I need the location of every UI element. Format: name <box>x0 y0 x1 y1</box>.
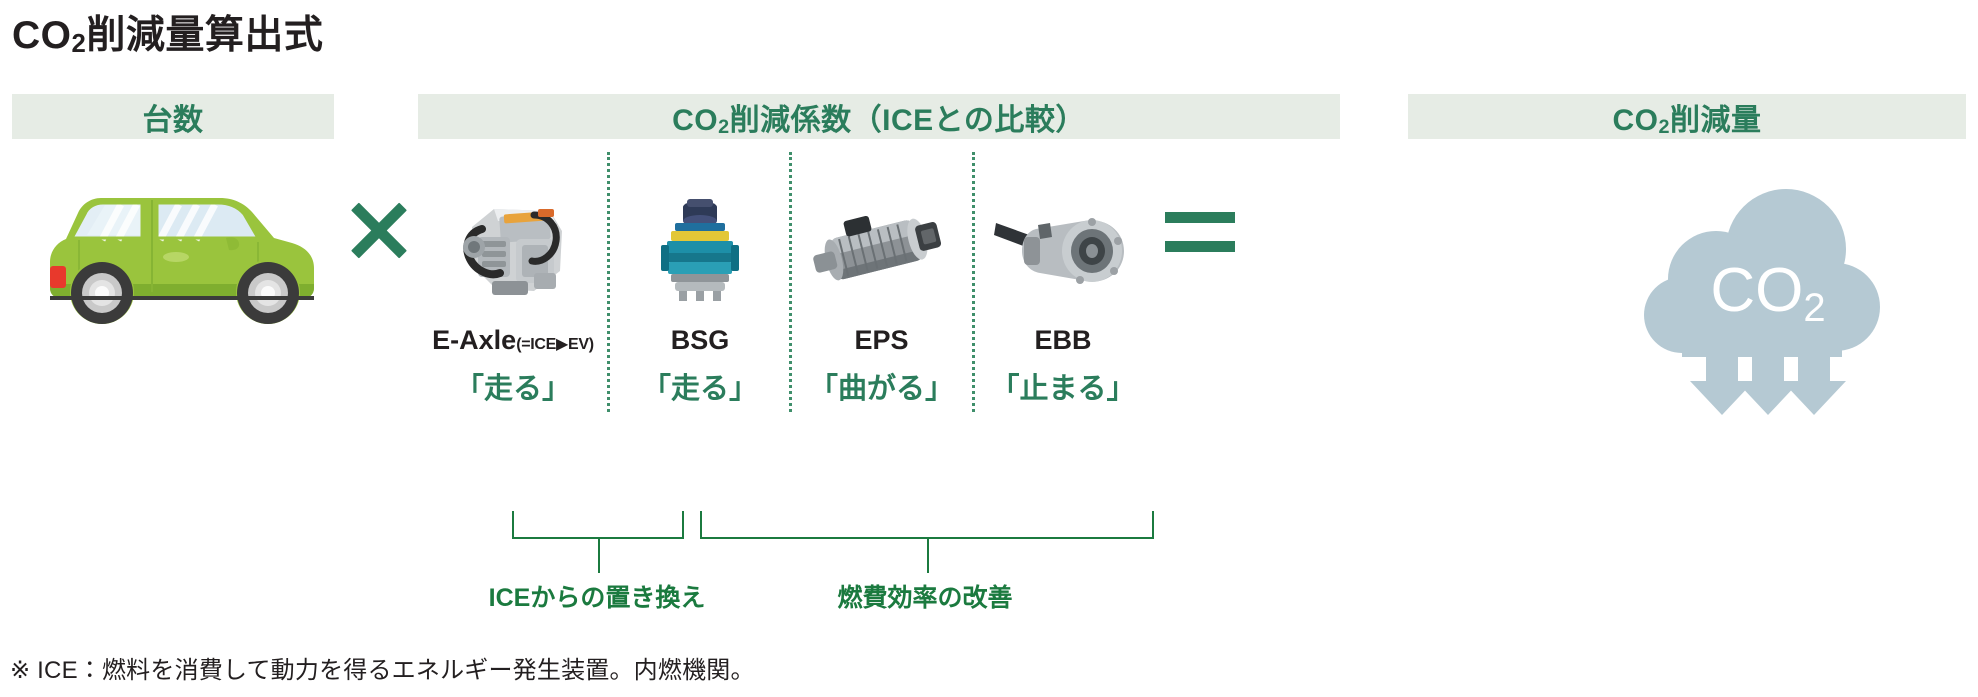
eps-image <box>793 170 970 330</box>
multiply-operator-icon <box>347 197 411 261</box>
band-coef-sub: 2 <box>718 116 730 138</box>
band-co2-reduction: CO2削減量 <box>1408 94 1966 139</box>
bracket-label-fuel-efficiency: 燃費効率の改善 <box>745 578 1105 614</box>
page-title-subscript: 2 <box>72 30 87 58</box>
equals-bar-top <box>1165 212 1235 223</box>
slide-root: CO2削減量算出式 台数 CO2削減係数（ICEとの比較） CO2削減量 <box>0 0 1978 697</box>
component-eaxle-function: 「走る」 <box>420 365 606 407</box>
page-title: CO2削減量算出式 <box>12 4 323 60</box>
component-ebb-function: 「止まる」 <box>975 365 1151 407</box>
band-reduction-pre: CO <box>1612 104 1658 137</box>
band-coef-pre: CO <box>672 104 718 137</box>
eaxle-name-text: E-Axle <box>432 325 516 355</box>
green-car-illustration <box>30 180 330 330</box>
band-vehicle-count: 台数 <box>12 94 334 139</box>
band-co2-coefficient-label: CO2削減係数（ICEとの比較） <box>672 95 1086 139</box>
component-eps[interactable]: EPS 「曲がる」 <box>793 170 970 407</box>
equals-bar-bottom <box>1165 241 1235 252</box>
bracket-fuel-stem <box>927 537 929 573</box>
component-bsg[interactable]: BSG 「走る」 <box>612 170 788 407</box>
component-ebb[interactable]: EBB 「止まる」 <box>975 170 1151 407</box>
component-ebb-name: EBB <box>975 325 1151 356</box>
page-title-co: CO <box>12 14 72 57</box>
equals-operator-icon <box>1165 212 1235 252</box>
band-coef-post: 削減係数（ICEとの比較） <box>730 104 1086 137</box>
component-bsg-function: 「走る」 <box>612 365 788 407</box>
bracket-ice-replacement <box>512 511 684 539</box>
component-eps-function: 「曲がる」 <box>793 365 970 407</box>
bracket-ice-stem <box>598 537 600 573</box>
eaxle-note-text: (=ICE▶EV) <box>516 336 594 353</box>
band-vehicle-count-label: 台数 <box>143 95 204 139</box>
band-reduction-sub: 2 <box>1658 116 1670 138</box>
eaxle-image <box>420 170 606 330</box>
component-eaxle[interactable]: E-Axle(=ICE▶EV) 「走る」 <box>420 170 606 407</box>
divider-dotted-2 <box>789 152 792 412</box>
bsg-image <box>612 170 788 330</box>
component-bsg-name: BSG <box>612 325 788 356</box>
divider-dotted-1 <box>607 152 610 412</box>
component-eaxle-name: E-Axle(=ICE▶EV) <box>420 325 606 356</box>
component-eps-name: EPS <box>793 325 970 356</box>
ebb-image <box>975 170 1151 330</box>
bracket-fuel-efficiency <box>700 511 1154 539</box>
bracket-label-ice-replacement: ICEからの置き換え <box>417 578 777 614</box>
page-title-tail: 削減量算出式 <box>86 14 323 57</box>
co2-cloud-icon: CO2 <box>1620 175 1920 415</box>
footnote-ice-definition: ※ ICE：燃料を消費して動力を得るエネルギー発生装置。内燃機関。 <box>10 650 755 685</box>
band-reduction-post: 削減量 <box>1670 104 1762 137</box>
band-co2-reduction-label: CO2削減量 <box>1612 95 1761 139</box>
band-co2-coefficient: CO2削減係数（ICEとの比較） <box>418 94 1340 139</box>
